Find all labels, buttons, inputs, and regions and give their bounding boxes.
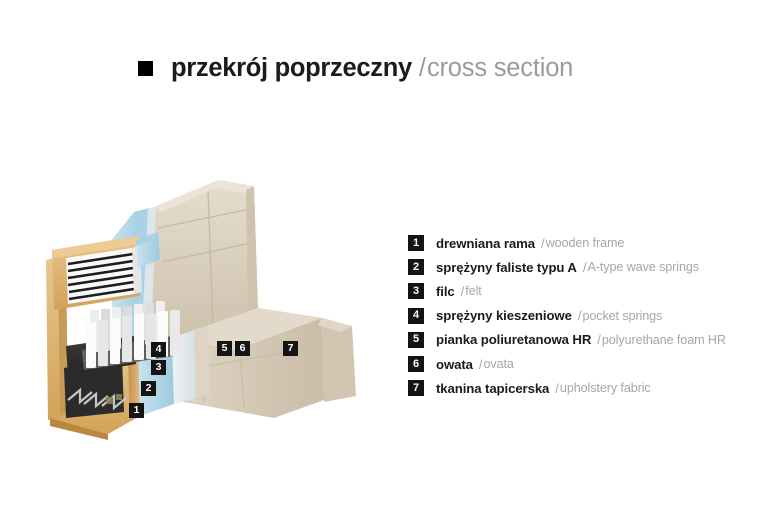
page-title-separator: /: [412, 54, 427, 83]
legend-item-4: 4 sprężyny kieszeniowe / pocket springs: [408, 304, 726, 328]
legend-badge-7: 7: [408, 380, 424, 396]
legend-item-7: 7 tkanina tapicerska / upholstery fabric: [408, 376, 726, 400]
legend-item-2: 2 sprężyny faliste typu A / A-type wave …: [408, 255, 726, 279]
legend-item-1: 1 drewniana rama / wooden frame: [408, 231, 726, 255]
legend-label-english-2: A-type wave springs: [587, 260, 699, 274]
square-bullet-icon: [138, 61, 153, 76]
legend-label-polish-5: pianka poliuretanowa HR: [436, 332, 591, 347]
legend-label-polish-3: filc: [436, 284, 455, 299]
legend-label-polish-7: tkanina tapicerska: [436, 381, 549, 396]
legend-label-polish-1: drewniana rama: [436, 236, 535, 251]
legend-item-6: 6 owata / ovata: [408, 352, 726, 376]
legend-label-english-4: pocket springs: [582, 309, 662, 323]
legend-badge-6: 6: [408, 356, 424, 372]
sofa-cross-section-illustration: 1 2 3 4 5 6 7: [22, 150, 382, 440]
legend-item-3: 3 filc / felt: [408, 279, 726, 303]
legend-label-english-3: felt: [465, 284, 481, 298]
legend-badge-4: 4: [408, 308, 424, 324]
legend-list: 1 drewniana rama / wooden frame 2 spręży…: [408, 231, 726, 400]
illustration-marker-6: 6: [235, 341, 250, 356]
legend-separator-5: /: [591, 332, 602, 347]
legend-badge-5: 5: [408, 332, 424, 348]
legend-badge-3: 3: [408, 283, 424, 299]
legend-item-5: 5 pianka poliuretanowa HR / polyurethane…: [408, 328, 726, 352]
legend-separator-1: /: [535, 236, 546, 251]
illustration-marker-2: 2: [141, 381, 156, 396]
legend-separator-2: /: [577, 260, 588, 275]
legend-badge-2: 2: [408, 259, 424, 275]
legend-label-english-1: wooden frame: [546, 236, 625, 250]
legend-label-english-7: upholstery fabric: [560, 381, 651, 395]
legend-badge-1: 1: [408, 235, 424, 251]
illustration-marker-5: 5: [217, 341, 232, 356]
legend-separator-7: /: [549, 381, 560, 396]
legend-separator-6: /: [473, 357, 484, 372]
legend-label-polish-6: owata: [436, 357, 473, 372]
page-title-english: cross section: [427, 54, 573, 83]
page-title-polish: przekrój poprzeczny: [171, 54, 412, 83]
legend-label-english-6: ovata: [484, 357, 514, 371]
illustration-marker-7: 7: [283, 341, 298, 356]
legend-separator-4: /: [572, 308, 583, 323]
illustration-marker-3: 3: [151, 360, 166, 375]
legend-label-english-5: polyurethane foam HR: [602, 333, 726, 347]
legend-label-polish-2: sprężyny faliste typu A: [436, 260, 577, 275]
page-title: przekrój poprzeczny / cross section: [138, 54, 573, 83]
legend-label-polish-4: sprężyny kieszeniowe: [436, 308, 572, 323]
legend-separator-3: /: [455, 284, 466, 299]
illustration-marker-1: 1: [129, 403, 144, 418]
illustration-marker-4: 4: [151, 342, 166, 357]
